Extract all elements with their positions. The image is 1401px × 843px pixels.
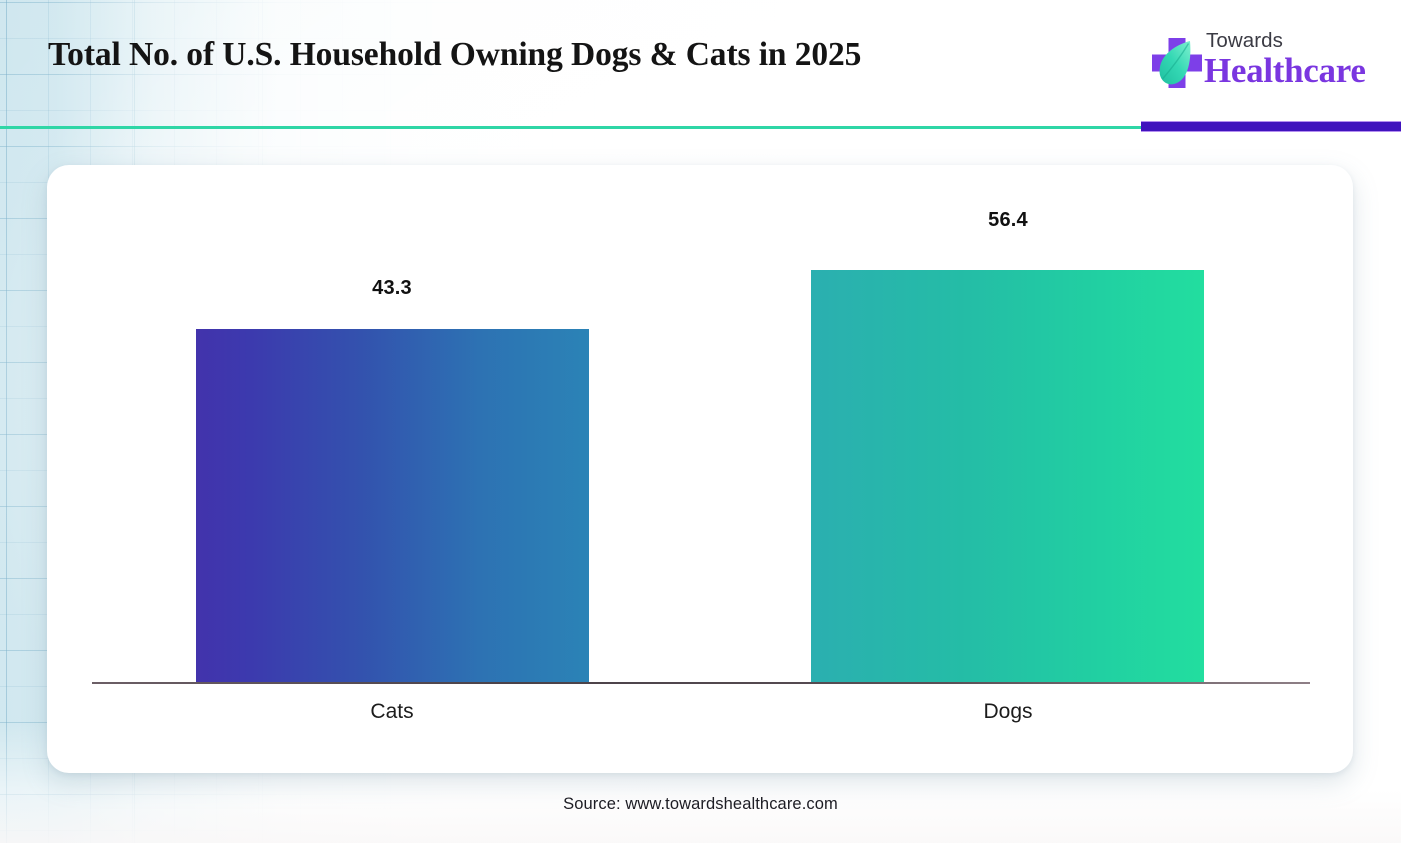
bar-value-label-dogs: 56.4 xyxy=(908,209,1108,232)
bar-cats[interactable] xyxy=(196,329,589,682)
page-title: Total No. of U.S. Household Owning Dogs … xyxy=(48,36,1108,74)
bar-dogs[interactable] xyxy=(811,270,1204,682)
x-axis-baseline xyxy=(92,682,1310,684)
header: Total No. of U.S. Household Owning Dogs … xyxy=(0,0,1401,131)
bar-chart-plot-area: 43.3 56.4 Cats Dogs xyxy=(47,165,1353,773)
infographic-canvas: Total No. of U.S. Household Owning Dogs … xyxy=(0,0,1401,843)
bar-value-label-cats: 43.3 xyxy=(292,277,492,300)
header-rule-teal xyxy=(0,126,1142,129)
brand-line-towards: Towards xyxy=(1206,31,1283,52)
brand-wordmark: Towards Healthcare xyxy=(1206,28,1388,100)
source-attribution: Source: www.towardshealthcare.com xyxy=(0,795,1401,814)
leaf-in-medical-cross-icon xyxy=(1148,34,1206,92)
chart-card: 43.3 56.4 Cats Dogs xyxy=(47,165,1353,773)
brand-logo[interactable]: Towards Healthcare xyxy=(1148,28,1388,100)
brand-line-healthcare: Healthcare xyxy=(1204,53,1366,88)
x-axis-tick-label-dogs: Dogs xyxy=(888,700,1128,724)
x-axis-tick-label-cats: Cats xyxy=(272,700,512,724)
header-rule-purple xyxy=(1141,121,1401,132)
